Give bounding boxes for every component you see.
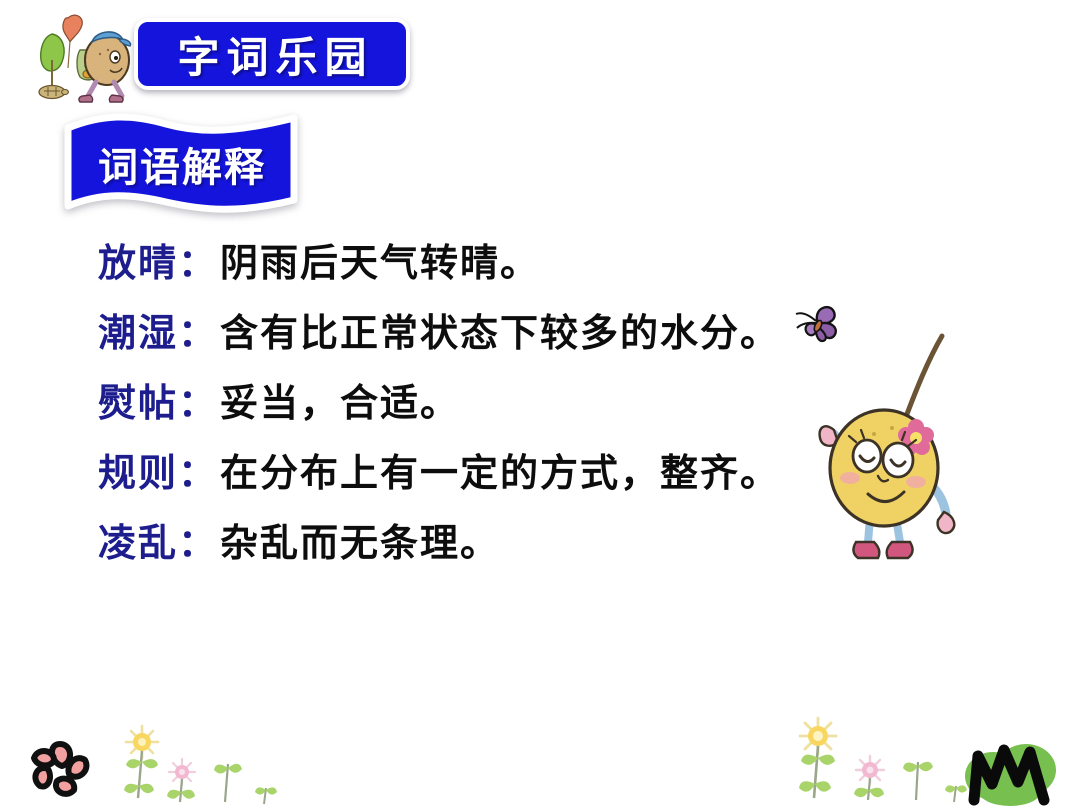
- vocabulary-separator: ：: [178, 302, 216, 357]
- subtitle-banner: 词语解释: [62, 112, 300, 216]
- vocabulary-term: 放晴: [98, 232, 178, 287]
- vocabulary-row: 潮湿 ： 含有比正常状态下较多的水分。: [98, 302, 878, 372]
- vocabulary-list: 放晴 ： 阴雨后天气转晴。 潮湿 ： 含有比正常状态下较多的水分。 熨帖 ： 妥…: [98, 232, 878, 582]
- vocabulary-row: 凌乱 ： 杂乱而无条理。: [98, 512, 878, 582]
- wavy-ribbon-shape: [62, 112, 300, 216]
- vocabulary-definition: 阴雨后天气转晴。: [220, 232, 540, 287]
- slide-canvas: 字词乐园 词语解释 放晴 ： 阴雨后天气转晴。 潮湿 ： 含有比正常状态下较多的…: [0, 0, 1080, 810]
- vocabulary-separator: ：: [178, 512, 216, 567]
- vocabulary-term: 熨帖: [98, 372, 178, 427]
- flower-border-left-icon: [18, 718, 278, 810]
- vocabulary-definition: 含有比正常状态下较多的水分。: [220, 302, 780, 357]
- vocabulary-separator: ：: [178, 232, 216, 287]
- vocabulary-separator: ：: [178, 442, 216, 497]
- walking-egg-mascot-icon: [22, 12, 140, 108]
- vocabulary-term: 潮湿: [98, 302, 178, 357]
- vocabulary-row: 规则 ： 在分布上有一定的方式，整齐。: [98, 442, 878, 512]
- smiling-pear-character-icon: [812, 330, 964, 570]
- vocabulary-definition: 妥当，合适。: [220, 372, 460, 427]
- flower-border-right-icon: [778, 712, 1074, 810]
- vocabulary-term: 规则: [98, 442, 178, 497]
- vocabulary-separator: ：: [178, 372, 216, 427]
- vocabulary-row: 放晴 ： 阴雨后天气转晴。: [98, 232, 878, 302]
- vocabulary-term: 凌乱: [98, 512, 178, 567]
- vocabulary-row: 熨帖 ： 妥当，合适。: [98, 372, 878, 442]
- vocabulary-definition: 杂乱而无条理。: [220, 512, 500, 567]
- title-banner: 字词乐园: [134, 18, 410, 90]
- vocabulary-definition: 在分布上有一定的方式，整齐。: [220, 442, 780, 497]
- page-title: 字词乐园: [134, 18, 410, 90]
